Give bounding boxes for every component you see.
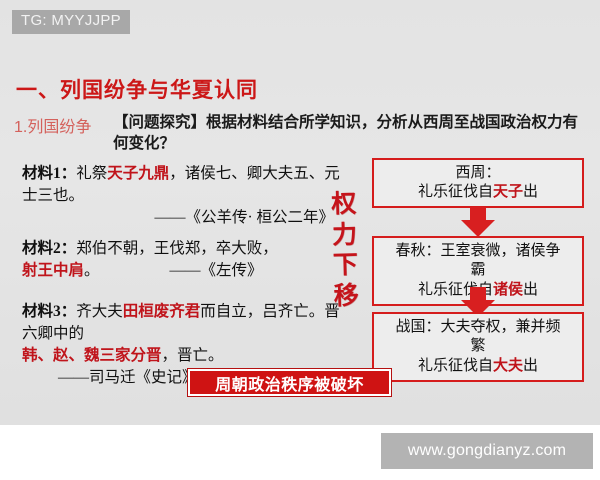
material-2-body: 材料2：郑伯不朝，王伐郑，卒大败，: [22, 238, 352, 260]
material-1-citation-line: ——《公羊传· 桓公二年》: [22, 207, 352, 229]
material-2-label: 材料2：: [22, 240, 76, 257]
material-3-highlight-1: 田桓废齐君: [123, 303, 201, 320]
tg-watermark: TG: MYYJJPP: [12, 10, 130, 34]
material-3-highlight-2: 韩、赵、魏三家分晋: [22, 347, 162, 364]
flow-box-chunqiu-highlight: 诸侯: [493, 282, 523, 298]
flow-box-chunqiu-line1: 春秋：王室衰微，诸侯争: [378, 242, 578, 262]
material-2-text-before: 郑伯不朝，王伐郑，卒大败，: [76, 240, 278, 257]
calligraphy-char-3: 下: [324, 250, 367, 282]
material-2: 材料2：郑伯不朝，王伐郑，卒大败， 射王中肩。——《左传》: [22, 238, 352, 282]
flow-box-chunqiu-line2-after: 出: [523, 282, 538, 298]
material-3-line2-after: ，晋亡。: [162, 347, 224, 364]
flow-box-zhanguo-line2-before: 礼乐征伐自: [418, 358, 493, 374]
flow-box-xizhou-line2: 礼乐征伐自天子出: [378, 183, 578, 203]
flow-box-zhanguo: 战国：大夫夺权，兼并频 繁 礼乐征伐自大夫出: [372, 312, 584, 382]
material-1-highlight: 天子九鼎: [107, 165, 169, 182]
material-3-text-before: 齐大夫: [76, 303, 123, 320]
material-3-line-1: 材料3：齐大夫田桓废齐君而自立，吕齐亡。晋六卿中的: [22, 301, 352, 345]
material-1-citation: ——《公羊传· 桓公二年》: [154, 209, 334, 226]
flow-box-zhanguo-line2-after: 出: [523, 358, 538, 374]
calligraphy-power-shift: 权 力 下 移: [322, 189, 367, 312]
flow-box-xizhou-highlight: 天子: [493, 184, 523, 200]
material-2-second-line: 射王中肩。——《左传》: [22, 260, 352, 282]
material-2-text-after: 。: [84, 262, 100, 279]
material-1-text-before: 礼祭: [76, 165, 107, 182]
flow-box-zhanguo-line1b: 繁: [378, 337, 578, 357]
flow-box-xizhou: 西周： 礼乐征伐自天子出: [372, 158, 584, 208]
conclusion-banner: 周朝政治秩序被破坏: [188, 369, 391, 396]
material-2-citation: ——《左传》: [170, 262, 263, 279]
flow-box-zhanguo-line1: 战国：大夫夺权，兼并频: [378, 318, 578, 338]
site-watermark: www.gongdianyz.com: [381, 433, 593, 469]
calligraphy-char-4: 移: [325, 281, 368, 313]
calligraphy-char-1: 权: [322, 189, 365, 221]
arrow-down-stem: [470, 207, 486, 221]
flow-box-zhanguo-highlight: 大夫: [493, 358, 523, 374]
flow-box-chunqiu-line1b: 霸: [378, 261, 578, 281]
material-1-body: 材料1：礼祭天子九鼎，诸侯七、卿大夫五、元士三也。: [22, 163, 352, 207]
calligraphy-char-2: 力: [323, 220, 366, 252]
flow-box-xizhou-line2-after: 出: [523, 184, 538, 200]
flow-box-zhanguo-line2: 礼乐征伐自大夫出: [378, 357, 578, 377]
material-1-label: 材料1：: [22, 165, 76, 182]
question-prompt: 【问题探究】根据材料结合所学知识，分析从西周至战国政治权力有何变化？: [113, 112, 593, 155]
material-1: 材料1：礼祭天子九鼎，诸侯七、卿大夫五、元士三也。 ——《公羊传· 桓公二年》: [22, 163, 352, 229]
material-3-label: 材料3：: [22, 303, 76, 320]
slide-canvas: TG: MYYJJPP 一、列国纷争与华夏认同 1.列国纷争 【问题探究】根据材…: [0, 0, 600, 480]
arrow-down-icon: [461, 207, 495, 237]
arrow-down-stem: [470, 287, 486, 301]
page-title: 一、列国纷争与华夏认同: [16, 74, 258, 104]
flow-box-xizhou-line1: 西周：: [378, 164, 578, 184]
material-3-citation: ——司马迁《史记》: [58, 369, 198, 386]
flow-box-xizhou-line2-before: 礼乐征伐自: [418, 184, 493, 200]
section-sub-label: 1.列国纷争: [14, 113, 91, 137]
material-2-highlight: 射王中肩: [22, 262, 84, 279]
arrow-down-head: [461, 220, 495, 237]
